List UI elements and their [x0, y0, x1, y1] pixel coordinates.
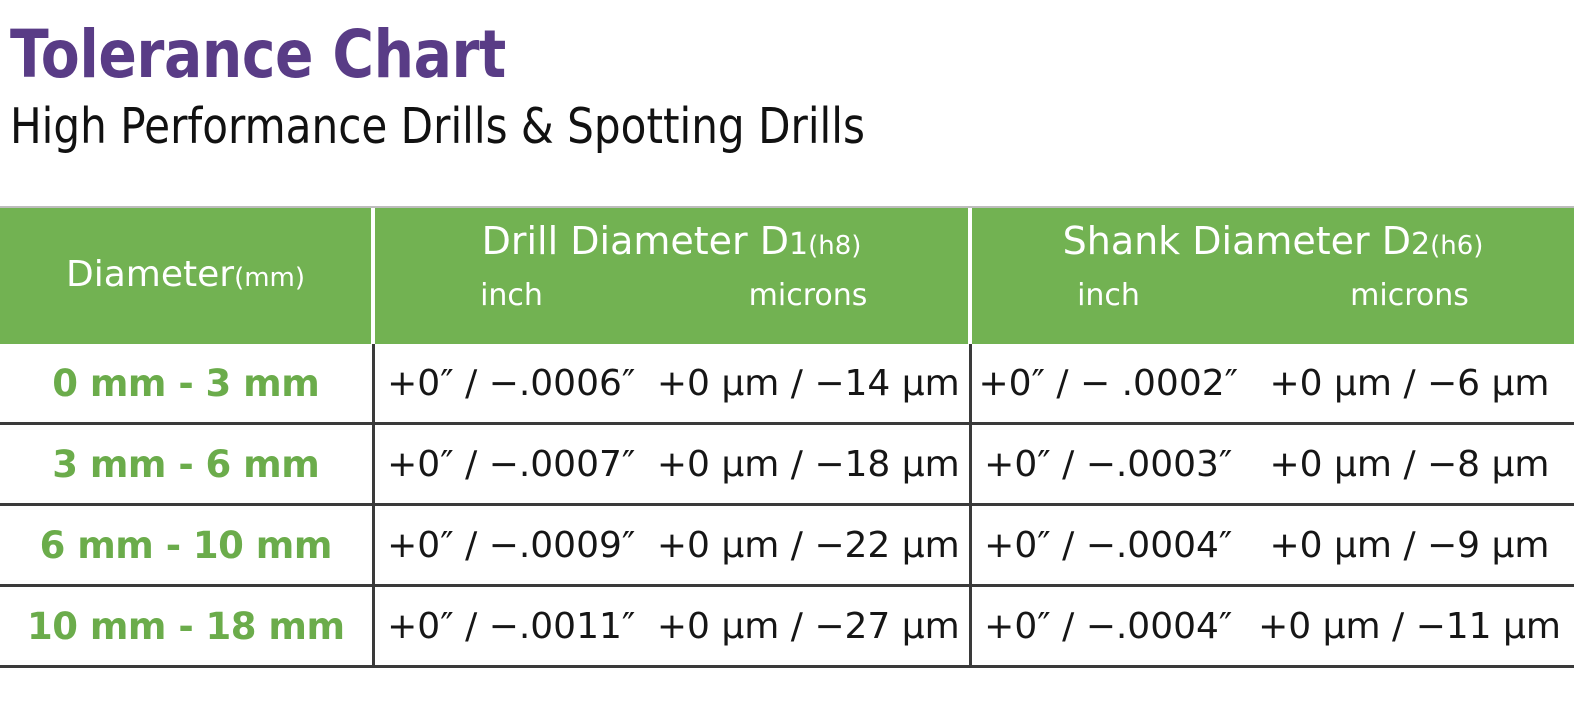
cell-shank-inch: +0″ / −.0003″: [970, 424, 1245, 505]
column-header-diameter: Diameter(mm): [0, 208, 373, 344]
cell-diameter: 3 mm - 6 mm: [0, 424, 373, 505]
column-group-header-drill-fit: (h8): [808, 231, 861, 261]
page-title: Tolerance Chart: [10, 18, 1355, 92]
column-group-header-shank-index: 2: [1411, 227, 1430, 262]
cell-diameter: 10 mm - 18 mm: [0, 586, 373, 667]
cell-shank-inch: +0″ / − .0002″: [970, 344, 1245, 424]
cell-drill-inch: +0″ / −.0011″: [373, 586, 648, 667]
column-header-shank-inch: inch: [970, 278, 1245, 344]
cell-drill-microns: +0 µm / −27 µm: [648, 586, 970, 667]
cell-drill-microns: +0 µm / −18 µm: [648, 424, 970, 505]
column-group-header-shank-label: Shank Diameter D: [1063, 219, 1411, 263]
cell-shank-microns: +0 µm / −11 µm: [1245, 586, 1574, 667]
cell-shank-microns: +0 µm / −6 µm: [1245, 344, 1574, 424]
tolerance-table: Diameter(mm) Drill Diameter D1(h8) Shank…: [0, 208, 1574, 668]
cell-drill-inch: +0″ / −.0007″: [373, 424, 648, 505]
table-row: 0 mm - 3 mm +0″ / −.0006″ +0 µm / −14 µm…: [0, 344, 1574, 424]
cell-diameter: 0 mm - 3 mm: [0, 344, 373, 424]
table-row: 3 mm - 6 mm +0″ / −.0007″ +0 µm / −18 µm…: [0, 424, 1574, 505]
title-block: Tolerance Chart High Performance Drills …: [0, 0, 1574, 156]
tolerance-chart-page: Tolerance Chart High Performance Drills …: [0, 0, 1574, 717]
cell-drill-inch: +0″ / −.0009″: [373, 505, 648, 586]
column-header-shank-microns: microns: [1245, 278, 1574, 344]
cell-shank-microns: +0 µm / −8 µm: [1245, 424, 1574, 505]
table-row: 10 mm - 18 mm +0″ / −.0011″ +0 µm / −27 …: [0, 586, 1574, 667]
column-header-diameter-unit: (mm): [234, 263, 305, 293]
cell-drill-microns: +0 µm / −14 µm: [648, 344, 970, 424]
column-group-header-drill-index: 1: [789, 227, 808, 262]
column-header-diameter-label: Diameter: [66, 254, 234, 295]
column-header-drill-inch: inch: [373, 278, 648, 344]
table-header-group-row: Diameter(mm) Drill Diameter D1(h8) Shank…: [0, 208, 1574, 278]
cell-drill-microns: +0 µm / −22 µm: [648, 505, 970, 586]
column-group-header-shank-diameter: Shank Diameter D2(h6): [970, 208, 1574, 278]
column-header-drill-microns: microns: [648, 278, 970, 344]
page-subtitle: High Performance Drills & Spotting Drill…: [10, 98, 1355, 156]
cell-drill-inch: +0″ / −.0006″: [373, 344, 648, 424]
cell-shank-inch: +0″ / −.0004″: [970, 505, 1245, 586]
table-body: 0 mm - 3 mm +0″ / −.0006″ +0 µm / −14 µm…: [0, 344, 1574, 667]
cell-shank-microns: +0 µm / −9 µm: [1245, 505, 1574, 586]
column-group-header-drill-diameter: Drill Diameter D1(h8): [373, 208, 970, 278]
table-row: 6 mm - 10 mm +0″ / −.0009″ +0 µm / −22 µ…: [0, 505, 1574, 586]
table-header: Diameter(mm) Drill Diameter D1(h8) Shank…: [0, 208, 1574, 344]
column-group-header-drill-label: Drill Diameter D: [482, 219, 789, 263]
cell-shank-inch: +0″ / −.0004″: [970, 586, 1245, 667]
cell-diameter: 6 mm - 10 mm: [0, 505, 373, 586]
column-group-header-shank-fit: (h6): [1430, 231, 1483, 261]
